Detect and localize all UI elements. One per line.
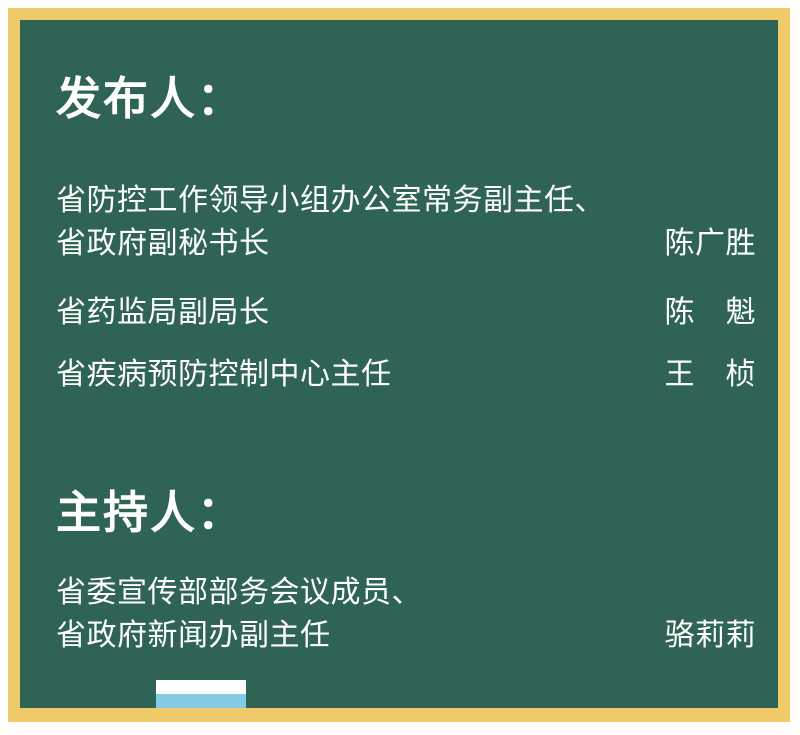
publisher-name: 王 桢 [665, 354, 757, 397]
bottom-marker [156, 680, 246, 708]
publisher-entry-row: 省药监局副局长 陈 魁 [56, 292, 756, 335]
host-entry-row: 省委宣传部部务会议成员、 省政府新闻办副主任 骆莉莉 [56, 572, 756, 657]
host-name: 骆莉莉 [665, 615, 757, 658]
bottom-marker-bar [156, 694, 246, 708]
publisher-name: 陈 魁 [665, 292, 757, 335]
publisher-entry-row: 省疾病预防控制中心主任 王 桢 [56, 354, 756, 397]
section-heading-publisher: 发布人： [56, 76, 244, 121]
publisher-title-line: 省政府副秘书长 [56, 223, 605, 266]
publisher-entry-titles: 省药监局副局长 [56, 292, 270, 335]
host-title-line: 省委宣传部部务会议成员、 [56, 572, 422, 615]
publisher-title-line: 省疾病预防控制中心主任 [56, 354, 392, 397]
publisher-title-line: 省药监局副局长 [56, 292, 270, 335]
publisher-title-line: 省防控工作领导小组办公室常务副主任、 [56, 180, 605, 223]
poster-frame: 发布人： 省防控工作领导小组办公室常务副主任、 省政府副秘书长 陈广胜 省药监局… [8, 8, 790, 722]
publisher-entry-row: 省防控工作领导小组办公室常务副主任、 省政府副秘书长 陈广胜 [56, 180, 756, 265]
poster-board: 发布人： 省防控工作领导小组办公室常务副主任、 省政府副秘书长 陈广胜 省药监局… [20, 20, 778, 708]
host-title-line: 省政府新闻办副主任 [56, 615, 422, 658]
publisher-entry-titles: 省防控工作领导小组办公室常务副主任、 省政府副秘书长 [56, 180, 605, 265]
section-heading-host: 主持人： [56, 490, 244, 535]
publisher-name: 陈广胜 [665, 223, 757, 266]
publisher-entry-titles: 省疾病预防控制中心主任 [56, 354, 392, 397]
host-entry-titles: 省委宣传部部务会议成员、 省政府新闻办副主任 [56, 572, 422, 657]
